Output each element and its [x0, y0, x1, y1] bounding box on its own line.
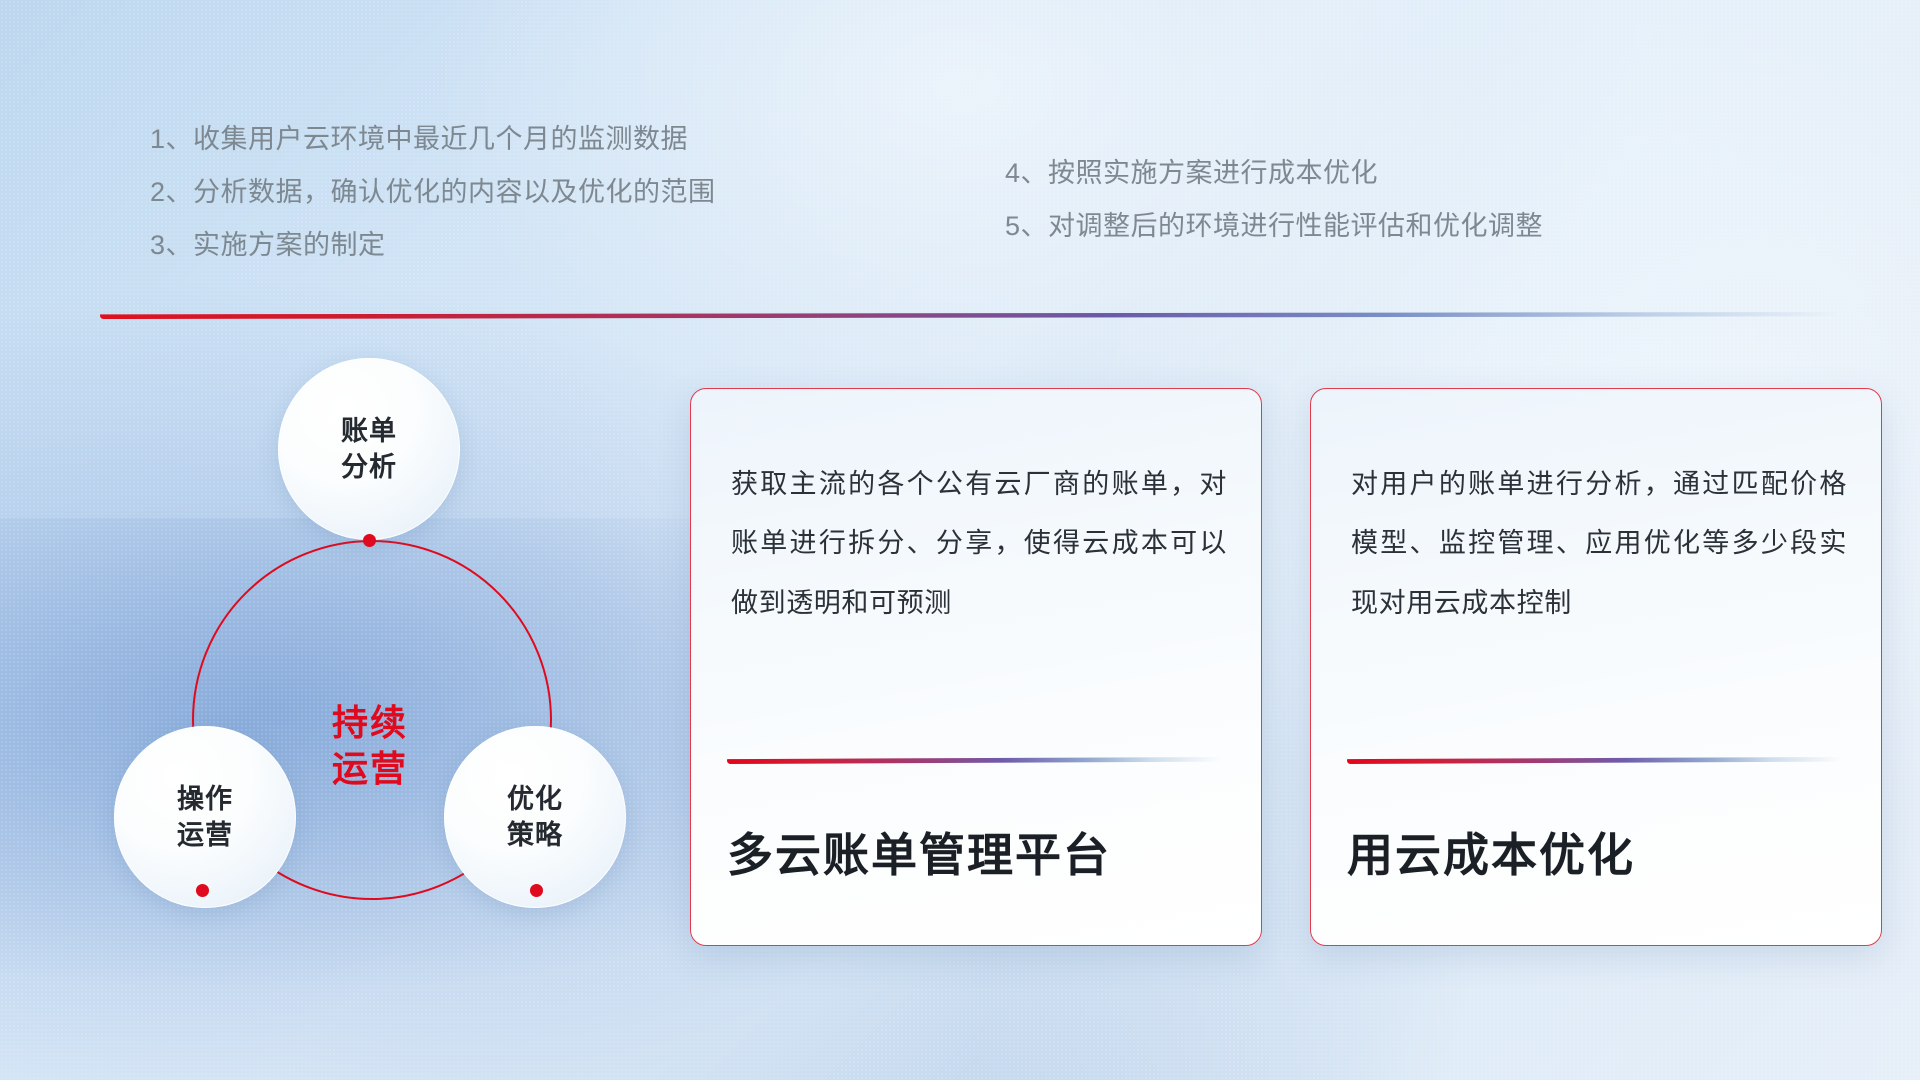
- venn-node-dot-right: [530, 884, 543, 897]
- venn-bubble-left-line2: 运营: [177, 820, 233, 850]
- step-item-5: 5、对调整后的环境进行性能评估和优化调整: [1005, 213, 1543, 240]
- step-item-3: 3、实施方案的制定: [150, 232, 716, 259]
- steps-right-column: 4、按照实施方案进行成本优化 5、对调整后的环境进行性能评估和优化调整: [1005, 160, 1543, 266]
- card-a-title: 多云账单管理平台: [727, 819, 1231, 885]
- card-b-title: 用云成本优化: [1347, 819, 1851, 885]
- venn-bubble-right-line1: 优化: [507, 784, 563, 814]
- card-b-divider: [1347, 757, 1841, 764]
- steps-left-column: 1、收集用户云环境中最近几个月的监测数据 2、分析数据，确认优化的内容以及优化的…: [150, 126, 716, 285]
- venn-node-dot-top: [363, 534, 376, 547]
- step-item-4: 4、按照实施方案进行成本优化: [1005, 160, 1543, 187]
- venn-bubble-top-line2: 分析: [341, 452, 397, 482]
- venn-bubble-optimization-strategy[interactable]: 优化 策略: [444, 726, 626, 908]
- venn-bubble-billing-analysis[interactable]: 账单 分析: [278, 358, 460, 540]
- step-item-1: 1、收集用户云环境中最近几个月的监测数据: [150, 126, 716, 153]
- venn-node-dot-left: [196, 884, 209, 897]
- venn-bubble-left-line1: 操作: [177, 784, 233, 814]
- venn-bubble-right-line2: 策略: [507, 820, 563, 850]
- step-item-2: 2、分析数据，确认优化的内容以及优化的范围: [150, 179, 716, 206]
- venn-bubble-operations[interactable]: 操作 运营: [114, 726, 296, 908]
- card-a-divider: [727, 757, 1221, 764]
- card-multicloud-billing-platform[interactable]: 获取主流的各个公有云厂商的账单，对账单进行拆分、分享，使得云成本可以做到透明和可…: [690, 388, 1262, 946]
- card-a-body: 获取主流的各个公有云厂商的账单，对账单进行拆分、分享，使得云成本可以做到透明和可…: [731, 455, 1227, 633]
- card-b-body: 对用户的账单进行分析，通过匹配价格模型、监控管理、应用优化等多少段实现对用云成本…: [1351, 455, 1847, 633]
- venn-diagram: 持续 运营 账单 分析 操作 运营 优化 策略: [100, 348, 640, 948]
- venn-bubble-top-line1: 账单: [341, 416, 397, 446]
- card-cloud-cost-optimization[interactable]: 对用户的账单进行分析，通过匹配价格模型、监控管理、应用优化等多少段实现对用云成本…: [1310, 388, 1882, 946]
